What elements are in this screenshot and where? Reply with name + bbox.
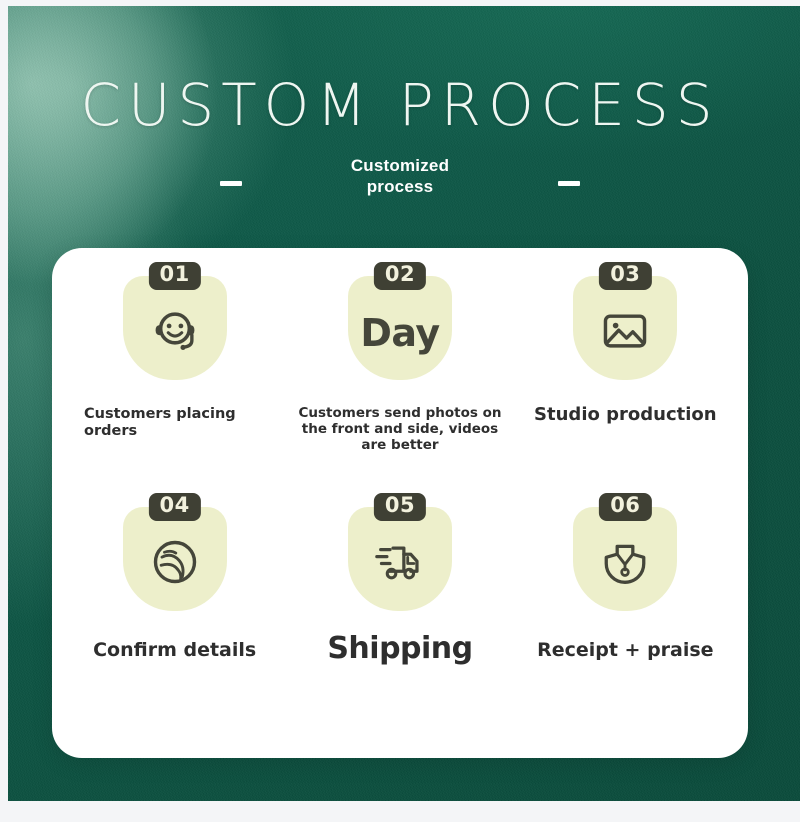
subtitle-line-1: Customized	[302, 155, 498, 176]
subtitle-row: Customized process	[0, 155, 800, 198]
poster-root: CUSTOM PROCESS Customized process	[0, 0, 800, 822]
step-05-caption: Shipping	[327, 631, 472, 666]
image-photo-icon	[600, 306, 650, 356]
dash-right-icon	[558, 181, 580, 186]
subtitle-line-2: process	[302, 176, 498, 197]
step-05-badge: 05	[374, 493, 426, 521]
step-04-icon-area	[123, 507, 227, 611]
step-01-badge: 01	[149, 262, 201, 290]
step-01[interactable]: 01 Customers placing orders	[62, 276, 287, 507]
step-04-caption: Confirm details	[93, 639, 256, 661]
step-06-badge: 06	[599, 493, 651, 521]
step-01-caption: Customers placing orders	[84, 406, 244, 440]
dash-left-icon	[220, 181, 242, 186]
step-06-blob-wrap: 06	[573, 507, 677, 611]
step-05-icon-area	[348, 507, 452, 611]
step-03-badge: 03	[599, 262, 651, 290]
step-06-blob	[573, 507, 677, 611]
step-03[interactable]: 03 Studio production	[513, 276, 738, 507]
step-06-caption: Receipt + praise	[537, 639, 714, 661]
step-01-blob	[123, 276, 227, 380]
headset-smiley-icon	[148, 304, 202, 358]
step-04[interactable]: 04 Confirm details	[62, 507, 287, 738]
step-02-icon-area: Day	[348, 276, 452, 380]
step-05[interactable]: 05 Shipping	[287, 507, 512, 738]
step-02[interactable]: Day 02 Customers send photos on the fron…	[287, 276, 512, 507]
subtitle: Customized process	[302, 155, 498, 198]
step-01-icon-area	[123, 276, 227, 380]
step-02-blob-wrap: Day 02	[348, 276, 452, 380]
step-01-blob-wrap: 01	[123, 276, 227, 380]
page-title: CUSTOM PROCESS	[0, 76, 800, 134]
step-05-blob	[348, 507, 452, 611]
step-06[interactable]: 06 Receipt + praise	[513, 507, 738, 738]
step-02-blob: Day	[348, 276, 452, 380]
step-03-icon-area	[573, 276, 677, 380]
step-04-badge: 04	[149, 493, 201, 521]
step-02-badge: 02	[374, 262, 426, 290]
step-02-caption: Customers send photos on the front and s…	[287, 406, 512, 454]
delivery-truck-icon	[373, 538, 427, 586]
process-card: 01 Customers placing orders Day 02 Custo…	[52, 248, 748, 758]
pearl-swirl-icon	[149, 536, 201, 588]
step-04-blob-wrap: 04	[123, 507, 227, 611]
step-03-caption: Studio production	[534, 404, 717, 425]
day-text: Day	[360, 314, 439, 352]
step-03-blob-wrap: 03	[573, 276, 677, 380]
step-03-blob	[573, 276, 677, 380]
step-05-blob-wrap: 05	[348, 507, 452, 611]
necklace-icon	[600, 537, 650, 587]
step-04-blob	[123, 507, 227, 611]
steps-grid: 01 Customers placing orders Day 02 Custo…	[52, 248, 748, 758]
step-06-icon-area	[573, 507, 677, 611]
